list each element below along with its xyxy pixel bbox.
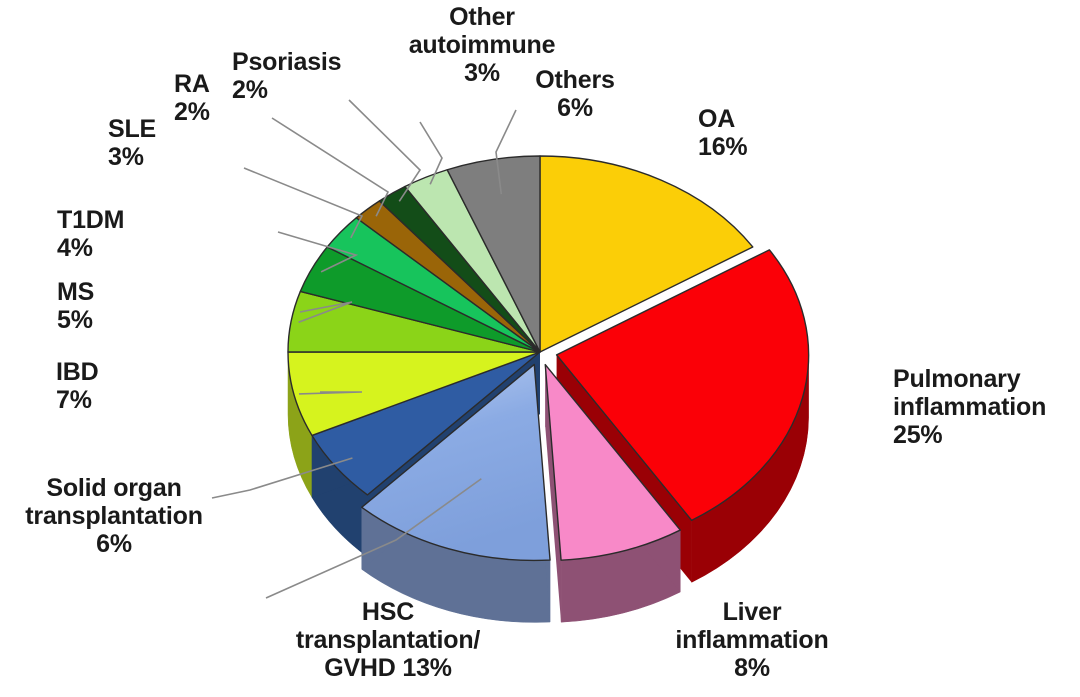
slice-label-others: Others 6% [509,66,641,122]
slice-label-t1dm: T1DM 4% [57,206,124,262]
slice-label-pulmonary-inflammation: Pulmonary inflammation 25% [893,365,1046,449]
leader-line-ra [272,118,388,216]
slice-label-ibd: IBD 7% [56,358,98,414]
slice-label-oa: OA 16% [698,105,747,161]
slice-label-psoriasis: Psoriasis 2% [232,48,341,104]
slice-label-hsc-transplantation: HSC transplantation/ GVHD 13% [268,598,508,682]
slice-label-sle: SLE 3% [108,115,156,171]
slice-label-ra: RA 2% [174,70,210,126]
slice-label-ms: MS 5% [57,278,94,334]
slice-label-liver-inflammation: Liver inflammation 8% [637,598,867,682]
pie-chart-figure: OA 16% Pulmonary inflammation 25% Liver … [0,0,1080,697]
slice-label-solid-organ-transplantation: Solid organ transplantation 6% [8,474,220,558]
leader-line-psoriasis [349,100,420,201]
leader-line-sle [244,168,362,238]
